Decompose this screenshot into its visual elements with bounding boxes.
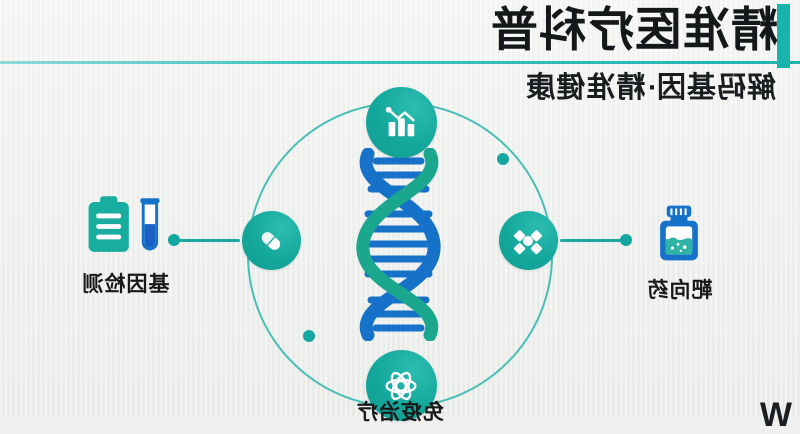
page-subtitle: 解码基因·精准健康 bbox=[525, 70, 776, 106]
test-tube-report-icon bbox=[63, 190, 188, 260]
side-item-label-left: 靶向药 bbox=[617, 274, 742, 304]
ring-node-analytics[interactable] bbox=[366, 87, 437, 158]
medicine-bottle-icon bbox=[617, 196, 742, 266]
side-item-label-right: 基因检测 bbox=[63, 268, 188, 298]
slide-canvas: 精准医疗科普 解码基因·精准健康 bbox=[0, 0, 800, 417]
bottom-item-label: 免疫治疗 bbox=[300, 396, 500, 426]
connector-line-left bbox=[560, 239, 622, 242]
side-item-gene-test[interactable]: 基因检测 bbox=[63, 190, 188, 298]
corner-watermark: W bbox=[762, 398, 792, 432]
pill-capsule-icon bbox=[256, 225, 288, 257]
molecule-icon bbox=[513, 225, 545, 257]
ring-node-molecule[interactable] bbox=[499, 211, 558, 270]
page-title: 精准医疗科普 bbox=[490, 2, 778, 58]
ring-node-medication[interactable] bbox=[242, 211, 301, 270]
orbit-ring-dot bbox=[497, 153, 509, 165]
mirrored-artboard: 精准医疗科普 解码基因·精准健康 bbox=[0, 0, 800, 417]
header-accent-bar bbox=[777, 4, 790, 68]
dna-double-helix bbox=[332, 148, 466, 341]
title-divider bbox=[0, 61, 800, 64]
bar-chart-icon bbox=[383, 104, 421, 142]
orbit-ring-dot bbox=[303, 330, 315, 342]
side-item-targeted-drug[interactable]: 靶向药 bbox=[617, 196, 742, 304]
